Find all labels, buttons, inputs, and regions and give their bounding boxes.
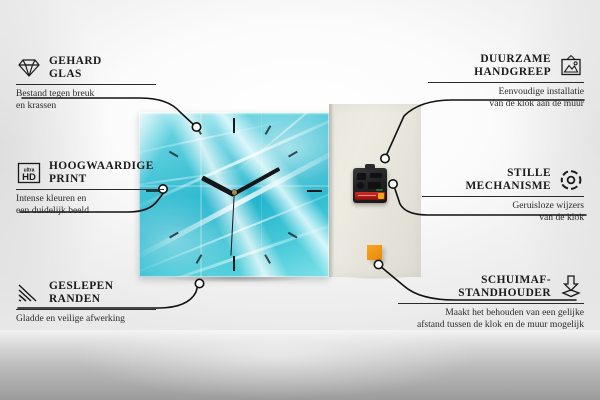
connector-dot-schuimafstandhouder — [374, 260, 382, 268]
feature-rule — [428, 82, 584, 83]
feature-schuimafstandhouder: SCHUIMAF- STANDHOUDER Maakt het behouden… — [398, 274, 584, 330]
feature-rule — [16, 84, 156, 85]
feature-rule — [398, 303, 584, 304]
feature-stille-mechanisme: STILLE MECHANISME Geruisloze wijzers van… — [422, 167, 584, 223]
feature-description: Geruisloze wijzers van de klok — [422, 200, 584, 223]
feature-duurzame-handgreep: DUURZAME HANDGREEP Eenvoudige installati… — [428, 53, 584, 109]
connector-dot-duurzame-handgreep — [381, 154, 389, 162]
feature-geslepen-randen: GESLEPEN RANDEN Gladde en veilige afwerk… — [16, 280, 168, 325]
connector-dot-gehard-glas — [192, 123, 200, 131]
feature-title: DUURZAME HANDGREEP — [474, 53, 551, 79]
feature-title: GEHARD GLAS — [49, 55, 102, 81]
feature-description: Gladde en veilige afwerking — [16, 313, 168, 324]
feature-rule — [16, 309, 156, 310]
foam-spacer-icon — [558, 274, 584, 300]
connector-dot-stille-mechanisme — [389, 180, 397, 188]
feature-description: Maakt het behouden van een gelijke afsta… — [398, 307, 584, 330]
connector-dot-geslepen-randen — [195, 279, 203, 287]
ultra-hd-icon: ultra HD — [16, 161, 42, 185]
feature-description: Eenvoudige installatie van de klok aan d… — [428, 86, 584, 109]
feature-hoogwaardige-print: ultra HD HOOGWAARDIGE PRINT Intense kleu… — [16, 160, 176, 216]
feature-title: GESLEPEN RANDEN — [49, 280, 113, 306]
feature-title: HOOGWAARDIGE PRINT — [49, 160, 154, 186]
beveled-edges-icon — [16, 282, 42, 304]
picture-hanger-icon — [558, 54, 584, 78]
feature-gehard-glas: GEHARD GLAS Bestand tegen breuk en krass… — [16, 55, 168, 111]
gear-icon — [558, 168, 584, 192]
feature-title: SCHUIMAF- STANDHOUDER — [458, 274, 551, 300]
infographic-canvas: GEHARD GLAS Bestand tegen breuk en krass… — [0, 0, 600, 400]
feature-rule — [16, 189, 164, 190]
feature-rule — [422, 196, 584, 197]
feature-description: Bestand tegen breuk en krassen — [16, 88, 168, 111]
diamond-icon — [16, 57, 42, 79]
svg-text:HD: HD — [22, 172, 36, 183]
feature-title: STILLE MECHANISME — [465, 167, 551, 193]
feature-description: Intense kleuren en een duidelijk beeld — [16, 193, 176, 216]
